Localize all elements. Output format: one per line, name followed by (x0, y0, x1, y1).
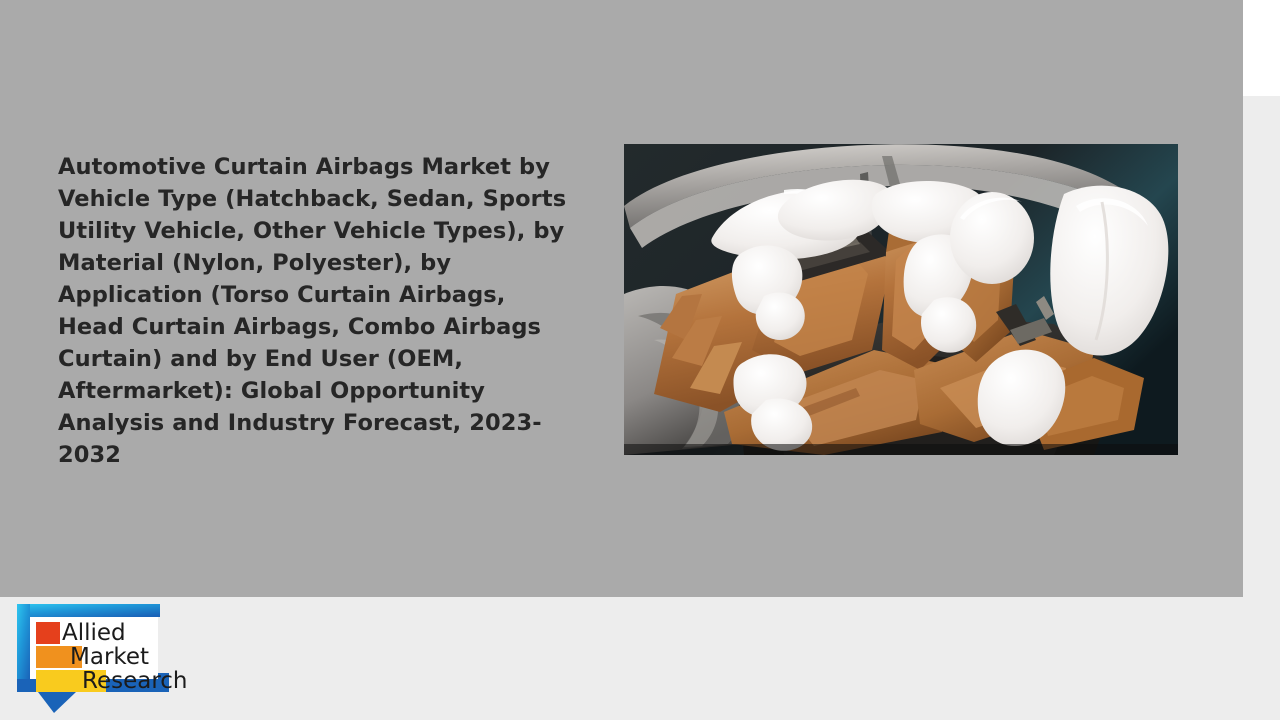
slide-canvas: Automotive Curtain Airbags Market by Veh… (0, 0, 1280, 720)
report-hero-image (624, 144, 1178, 455)
logo-line-research: Research (82, 668, 188, 694)
logo-line-market: Market (70, 644, 149, 670)
car-interior-airbags-illustration (624, 144, 1178, 455)
page-title: Automotive Curtain Airbags Market by Veh… (58, 151, 578, 471)
logo-bar-red (36, 622, 60, 644)
logo-line-allied: Allied (62, 620, 126, 646)
allied-market-research-logo: Allied Market Research (14, 601, 200, 713)
report-title-text: Automotive Curtain Airbags Market by Veh… (58, 151, 578, 471)
logo-svg: Allied Market Research (14, 601, 200, 713)
